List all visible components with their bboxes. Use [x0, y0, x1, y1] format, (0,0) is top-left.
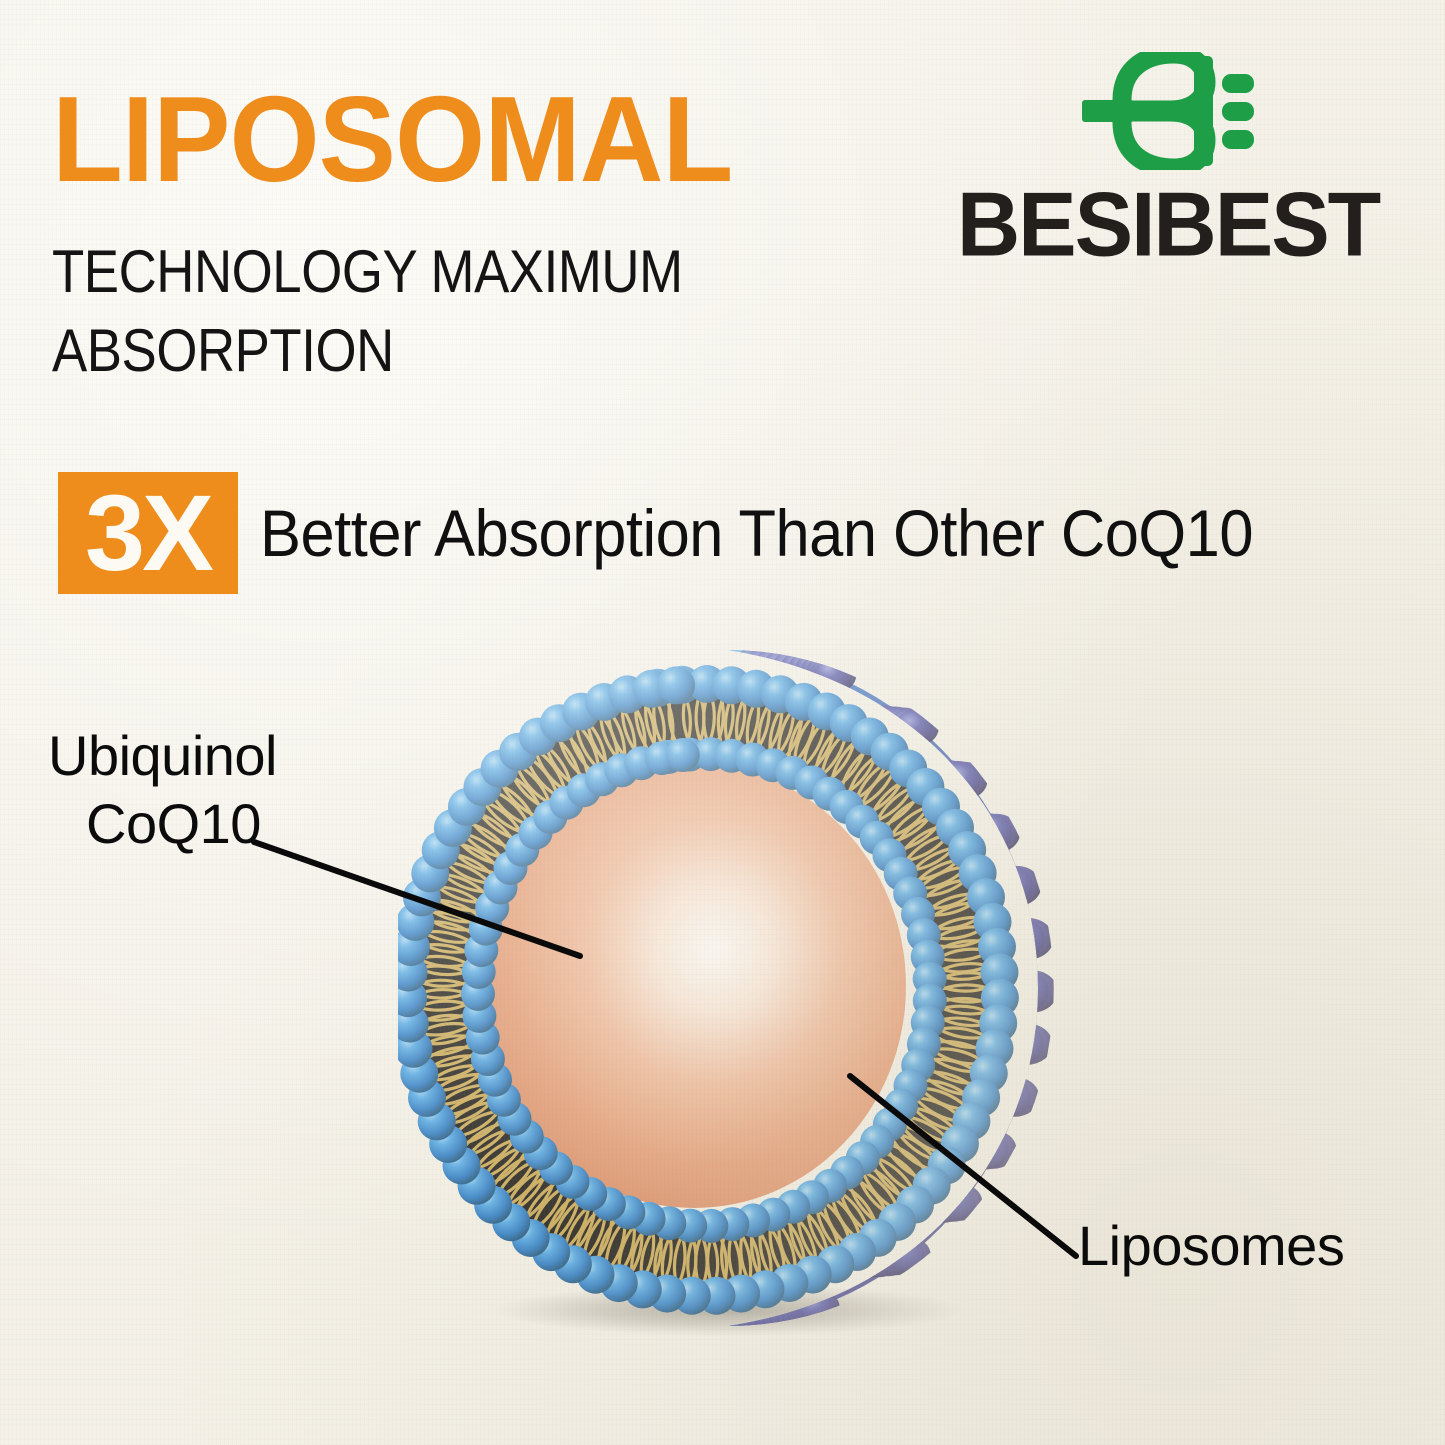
page-subtitle: TECHNOLOGY MAXIMUM ABSORPTION [52, 232, 683, 390]
subtitle-line-1: TECHNOLOGY MAXIMUM [52, 232, 683, 311]
subtitle-line-2: ABSORPTION [52, 311, 683, 390]
page-title: LIPOSOMAL [52, 78, 732, 200]
brand-wordmark: BESIBEST [957, 179, 1379, 270]
liposome-diagram [398, 638, 1058, 1338]
callout-ubiquinol-line-1: Ubiquinol [48, 724, 277, 787]
multiplier-badge: 3X [58, 472, 238, 594]
claim-text: Better Absorption Than Other CoQ10 [260, 495, 1253, 571]
callout-ubiquinol-line-2: CoQ10 [48, 790, 277, 858]
callout-liposomes: Liposomes [1078, 1212, 1344, 1280]
absorption-claim: 3X Better Absorption Than Other CoQ10 [58, 472, 1328, 594]
infographic-poster: LIPOSOMAL TECHNOLOGY MAXIMUM ABSORPTION … [0, 0, 1445, 1445]
besibest-leaf-b-icon [1082, 52, 1254, 170]
liposome-cutaway-graphic [398, 638, 1058, 1338]
callout-ubiquinol: Ubiquinol CoQ10 [48, 722, 277, 859]
brand-logo: BESIBEST [933, 52, 1403, 268]
